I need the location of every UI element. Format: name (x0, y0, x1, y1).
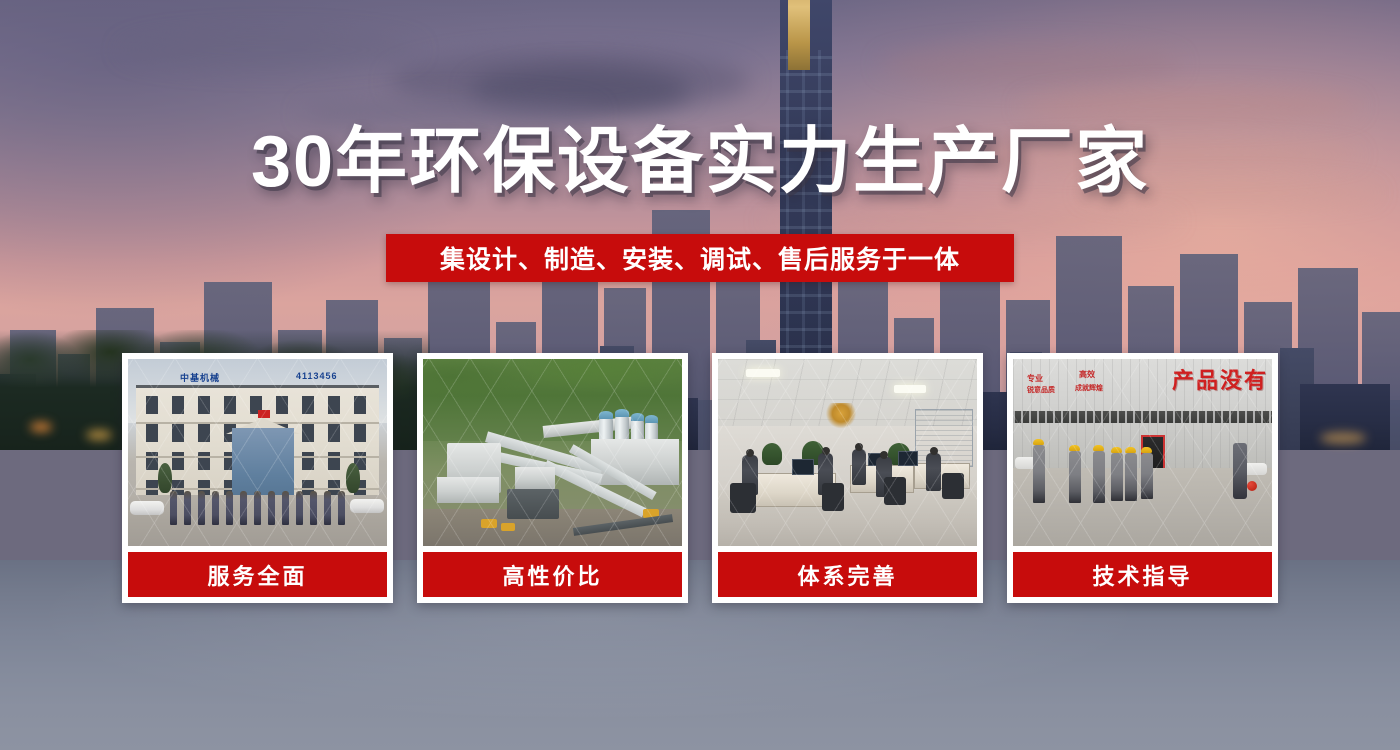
card-caption: 技术指导 (1013, 552, 1272, 597)
feature-card[interactable]: 产品没有 专业 锐意品质 高效 成就辉煌 (1007, 353, 1278, 603)
factory-wall-slogan-c: 高效 (1079, 369, 1095, 380)
building-company-sign: 中基机械 (180, 371, 220, 384)
card-caption-text: 体系完善 (797, 559, 897, 591)
card-photo-workers-factory: 产品没有 专业 锐意品质 高效 成就辉煌 (1013, 359, 1272, 546)
card-photo-industrial-plant (423, 359, 682, 546)
factory-wall-slogan-a: 专业 (1027, 373, 1043, 384)
factory-wall-slogan-b: 锐意品质 (1027, 385, 1055, 395)
card-caption-text: 技术指导 (1092, 559, 1192, 591)
subtitle-banner: 集设计、制造、安装、调试、售后服务于一体 (386, 234, 1014, 282)
card-caption: 体系完善 (718, 552, 977, 597)
factory-wall-slogan: 产品没有 (1172, 363, 1268, 395)
card-caption-text: 高性价比 (502, 559, 602, 591)
card-photo-office-interior (718, 359, 977, 546)
tower-crown-lit (788, 0, 810, 70)
hero-banner: 30年环保设备实力生产厂家 集设计、制造、安装、调试、售后服务于一体 中基机械 (0, 0, 1400, 750)
feature-card[interactable]: 中基机械 4113456 (122, 353, 393, 603)
building-phone-number: 4113456 (296, 371, 338, 381)
feature-card-row: 中基机械 4113456 (122, 353, 1278, 603)
subtitle-text: 集设计、制造、安装、调试、售后服务于一体 (440, 240, 960, 276)
card-photo-office-building: 中基机械 4113456 (128, 359, 387, 546)
card-caption-text: 服务全面 (207, 559, 307, 591)
feature-card[interactable]: 高性价比 (417, 353, 688, 603)
page-title: 30年环保设备实力生产厂家 (0, 126, 1400, 198)
wall-logo (826, 403, 856, 429)
factory-wall-slogan-d: 成就辉煌 (1075, 383, 1103, 393)
card-caption: 服务全面 (128, 552, 387, 597)
feature-card[interactable]: 体系完善 (712, 353, 983, 603)
card-caption: 高性价比 (423, 552, 682, 597)
window-blinds (915, 409, 973, 467)
